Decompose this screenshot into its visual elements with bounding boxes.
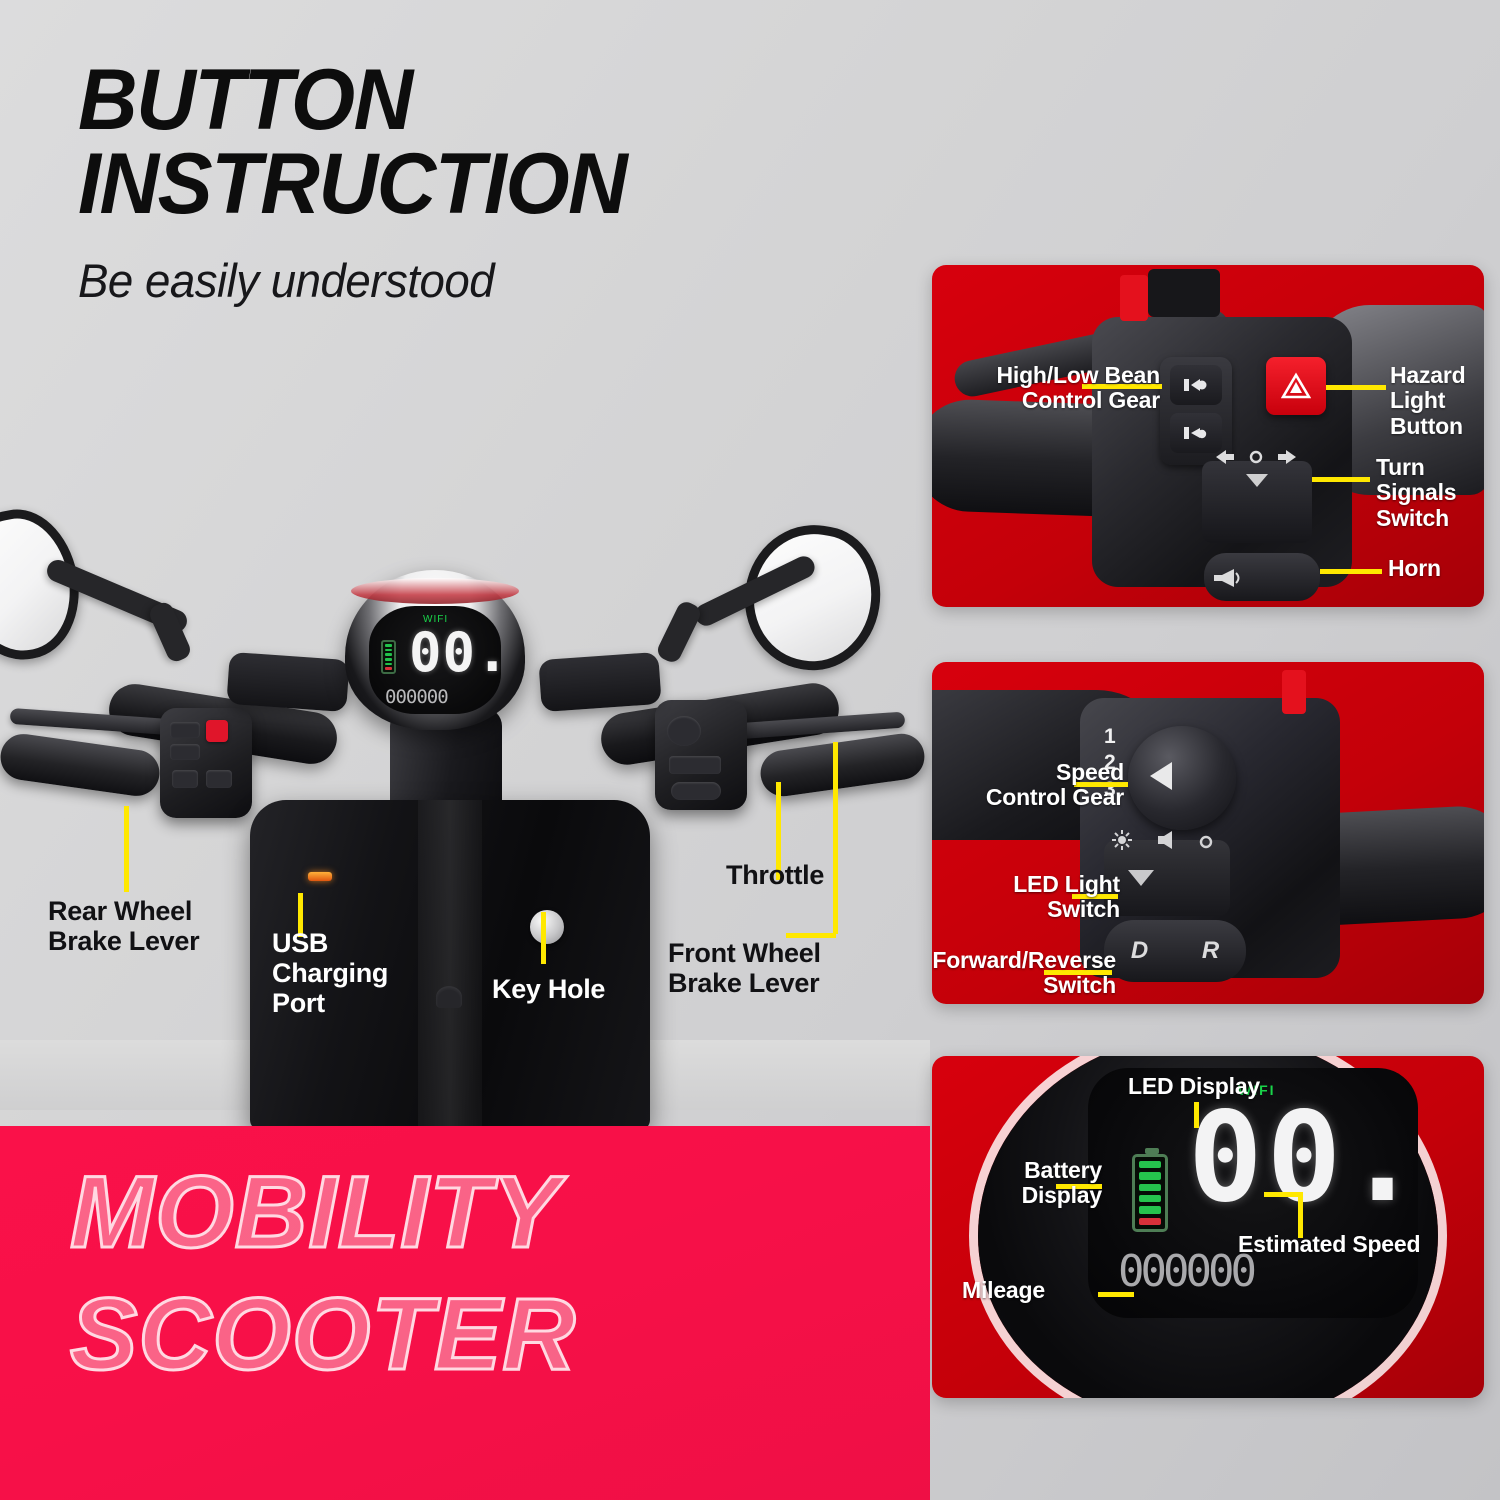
hazard-triangle-icon <box>1281 372 1311 400</box>
turn-signal-rocker-icon <box>1242 471 1272 491</box>
panel-3-mileage-readout: 000000 <box>1118 1246 1253 1297</box>
left-shroud <box>226 652 349 712</box>
high-beam-icon[interactable] <box>170 722 200 738</box>
leader-turn-signals <box>1312 477 1370 482</box>
led-light-switch[interactable] <box>1104 840 1230 916</box>
scooter-front-photo: WIFI 00. 000000 <box>0 470 930 1130</box>
label-usb-charging-port: USB Charging Port <box>272 928 388 1019</box>
low-beam-icon <box>1183 425 1209 441</box>
speed-gear-knob-icon[interactable] <box>667 716 701 746</box>
panel-left-handlebar-controls: High/Low Bean Control Gear Hazard Light … <box>932 265 1484 607</box>
leader-front-brake <box>833 742 838 934</box>
left-grip[interactable] <box>0 731 162 799</box>
battery-gauge-icon <box>381 640 396 674</box>
label-speed-control-gear: Speed Control Gear <box>932 760 1124 811</box>
panel-2-red-tip <box>1282 670 1306 714</box>
headline-line-2: INSTRUCTION <box>78 142 904 226</box>
brand-line-2: SCOOTER <box>70 1282 892 1386</box>
gear-pointer-icon <box>1150 762 1172 790</box>
forward-reverse-switch-icon[interactable] <box>671 782 721 800</box>
speed-readout: 00. <box>409 626 501 680</box>
panel-led-display: WIFI 00. 000000 LED Display Battery Disp… <box>932 1056 1484 1398</box>
throttle-grip[interactable] <box>758 731 928 800</box>
brand-block: MOBILITY SCOOTER <box>70 1160 900 1386</box>
mileage-readout: 000000 <box>385 686 448 708</box>
label-led-display: LED Display <box>1128 1074 1260 1099</box>
label-hazard-light-button: Hazard Light Button <box>1390 363 1484 439</box>
label-forward-reverse-switch: Forward/Reverse Switch <box>932 948 1116 999</box>
horn-button[interactable] <box>1204 553 1320 601</box>
headline-block: BUTTON INSTRUCTION Be easily understood <box>78 58 938 308</box>
left-mirror-stem-base <box>147 600 193 665</box>
high-beam-button[interactable] <box>1170 365 1222 405</box>
bag-hook <box>436 986 462 1008</box>
high-beam-icon <box>1183 377 1209 393</box>
instrument-console: WIFI 00. 000000 <box>345 570 525 730</box>
headline-line-1: BUTTON <box>78 58 904 142</box>
brand-line-1: MOBILITY <box>70 1160 892 1264</box>
panel-right-handlebar-controls: 1 2 3 D R Speed Control Gear <box>932 662 1484 1004</box>
leader-mileage <box>1098 1292 1134 1297</box>
key-hole-icon[interactable] <box>530 910 564 944</box>
label-horn: Horn <box>1388 556 1441 581</box>
label-estimated-speed: Estimated Speed <box>1238 1232 1420 1257</box>
hazard-light-button[interactable] <box>1266 357 1326 415</box>
left-switch-pod[interactable] <box>160 708 252 818</box>
label-mileage: Mileage <box>962 1278 1045 1303</box>
label-key-hole: Key Hole <box>492 974 605 1004</box>
label-battery-display: Battery Display <box>942 1158 1102 1209</box>
label-high-low-bean-control-gear: High/Low Bean Control Gear <box>936 363 1160 414</box>
instrument-dial: WIFI 00. 000000 <box>978 1056 1438 1398</box>
led-display-screen: WIFI 00. 000000 <box>1088 1068 1418 1318</box>
turn-signal-icon[interactable] <box>172 770 198 788</box>
right-switch-pod[interactable] <box>655 700 747 810</box>
turn-signals-switch[interactable] <box>1202 461 1312 543</box>
headline-subtitle: Be easily understood <box>78 253 912 308</box>
right-shroud <box>538 652 661 712</box>
label-throttle: Throttle <box>726 860 824 890</box>
led-switch-icons <box>1108 826 1226 854</box>
led-rocker-icon <box>1122 866 1192 900</box>
leader-estimated-speed-h <box>1264 1192 1302 1197</box>
infographic-canvas: BUTTON INSTRUCTION Be easily understood <box>0 0 1500 1500</box>
battery-display-icon <box>1132 1154 1168 1232</box>
right-mirror-stem-base <box>655 599 704 665</box>
panel-3-speed-readout: 00. <box>1188 1096 1424 1220</box>
usb-charging-port-icon[interactable] <box>308 872 332 881</box>
drive-button-label[interactable]: D <box>1131 937 1148 965</box>
apron-ridge <box>418 800 482 1130</box>
leader-keyhole <box>541 912 546 964</box>
horn-icon[interactable] <box>206 770 232 788</box>
speed-control-gear[interactable] <box>1128 726 1236 830</box>
horn-icon <box>1212 567 1244 589</box>
panel-1-clamp <box>1148 269 1220 317</box>
leader-led-display <box>1194 1102 1199 1128</box>
turn-signal-arrows-icon <box>1206 445 1306 469</box>
led-light-switch-icon[interactable] <box>669 756 721 774</box>
forward-reverse-switch[interactable]: D R <box>1104 920 1246 982</box>
reverse-button-label[interactable]: R <box>1202 937 1219 965</box>
leader-hazard <box>1326 385 1386 390</box>
label-rear-wheel-brake-lever: Rear Wheel Brake Lever <box>48 896 199 956</box>
label-front-wheel-brake-lever: Front Wheel Brake Lever <box>668 938 821 998</box>
hazard-light-icon[interactable] <box>206 720 228 742</box>
leader-horn <box>1320 569 1382 574</box>
label-turn-signals-switch: Turn Signals Switch <box>1376 455 1484 531</box>
panel-1-red-tip <box>1120 275 1148 321</box>
leader-rear-brake <box>124 806 129 892</box>
main-lcd-screen: WIFI 00. 000000 <box>369 606 501 714</box>
label-led-light-switch: LED Light Switch <box>932 872 1120 923</box>
low-beam-icon[interactable] <box>170 744 200 760</box>
